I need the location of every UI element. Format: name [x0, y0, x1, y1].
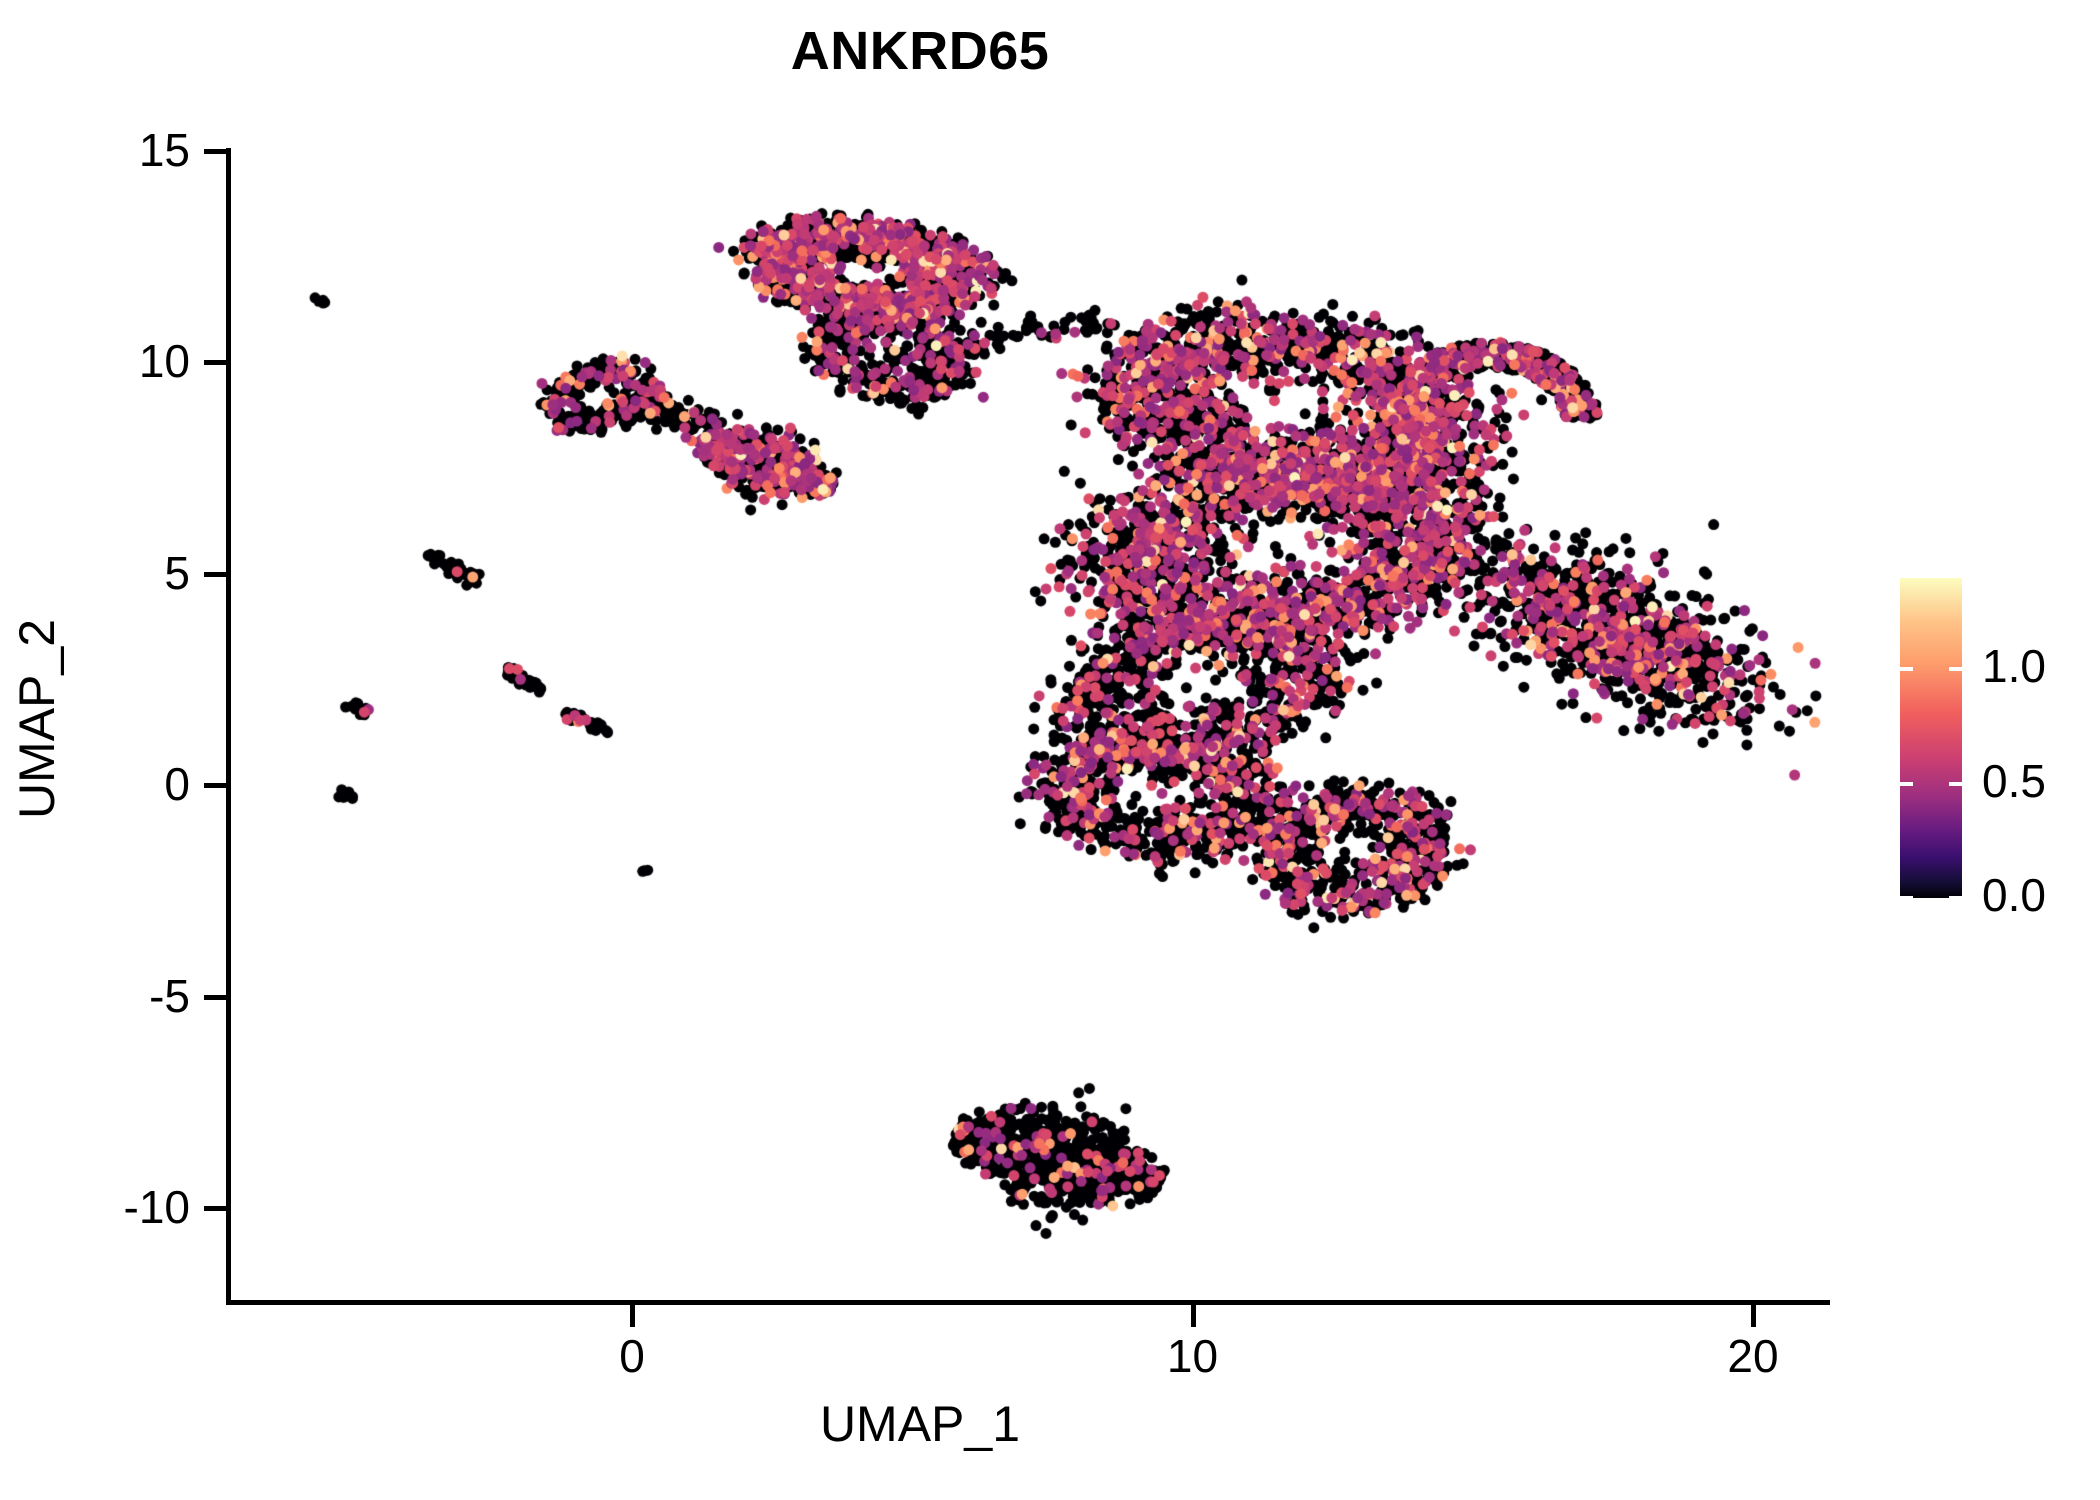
colorbar-legend: 1.00.50.0: [1900, 578, 2080, 908]
colorbar-tick-mark: [1900, 782, 1913, 786]
x-tick-mark: [1751, 1305, 1756, 1327]
y-tick-mark: [204, 783, 226, 788]
colorbar-tick-mark: [1949, 896, 1962, 900]
y-tick-mark: [204, 1206, 226, 1211]
x-tick-label: 20: [1653, 1333, 1853, 1379]
y-tick-mark: [204, 149, 226, 154]
x-tick-label: 10: [1093, 1333, 1293, 1379]
colorbar-tick-label: 1.0: [1982, 643, 2046, 689]
scatter-canvas-wrapper: [228, 140, 1828, 1300]
colorbar-gradient: [1900, 578, 1962, 898]
x-tick-mark: [630, 1305, 635, 1327]
umap-feature-plot: ANKRD65 151050-5-10 01020 UMAP_1 UMAP_2 …: [0, 0, 2100, 1500]
colorbar-tick-label: 0.0: [1982, 872, 2046, 918]
x-axis-title: UMAP_1: [0, 1395, 1840, 1453]
x-tick-mark: [1191, 1305, 1196, 1327]
colorbar-tick-mark: [1900, 896, 1913, 900]
colorbar-tick-label: 0.5: [1982, 758, 2046, 804]
colorbar-tick-mark: [1900, 667, 1913, 671]
scatter-plot-canvas: [228, 140, 1828, 1300]
y-tick-label: -10: [0, 1184, 190, 1230]
y-tick-mark: [204, 360, 226, 365]
colorbar-tick-mark: [1949, 782, 1962, 786]
y-tick-mark: [204, 572, 226, 577]
y-axis-line: [226, 148, 231, 1305]
colorbar-tick-mark: [1949, 667, 1962, 671]
x-axis-line: [226, 1300, 1830, 1305]
page-title: ANKRD65: [0, 20, 1840, 82]
x-tick-label: 0: [532, 1333, 732, 1379]
y-tick-mark: [204, 995, 226, 1000]
plot-panel: [228, 140, 1828, 1300]
y-axis-title: UMAP_2: [8, 369, 66, 1069]
y-tick-label: 15: [0, 127, 190, 173]
